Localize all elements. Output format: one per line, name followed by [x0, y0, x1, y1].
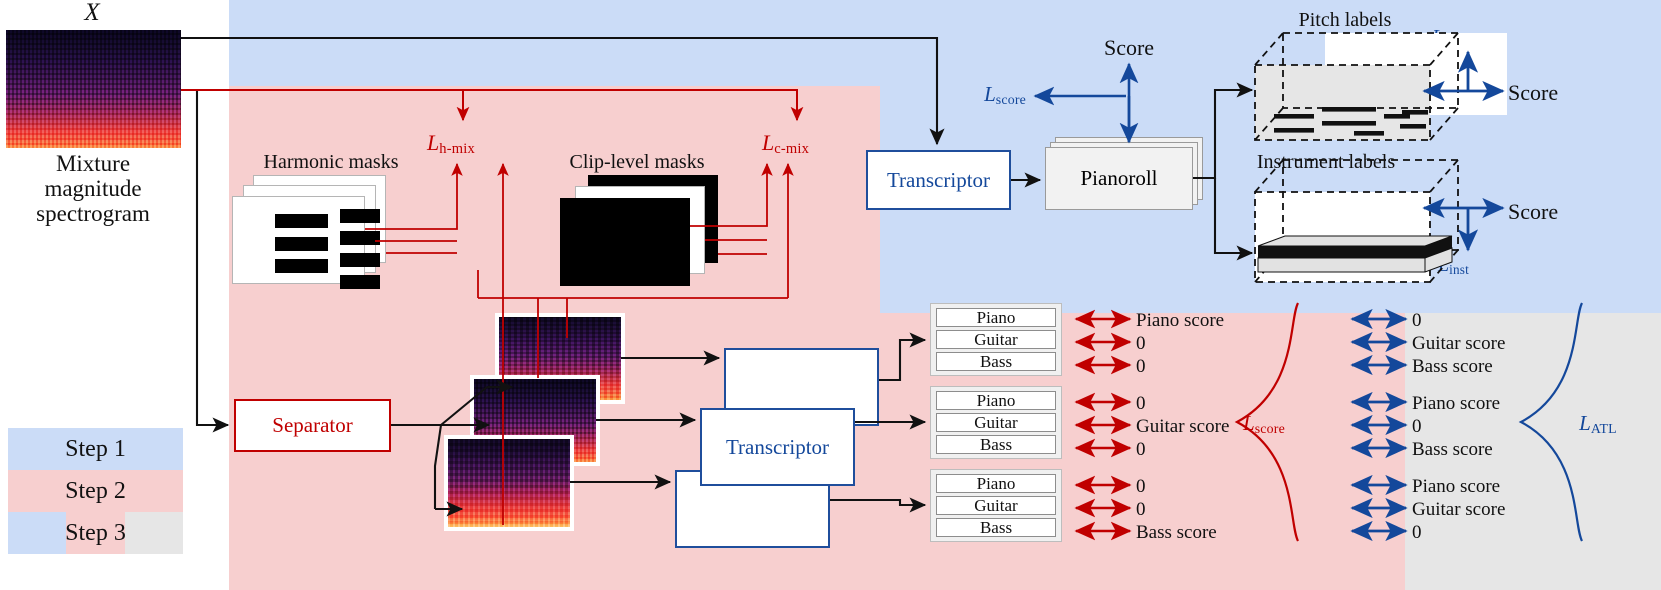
score-table-block: Piano Guitar Bass: [930, 386, 1062, 459]
legend-label: Step 2: [65, 478, 126, 505]
separator-label: Separator: [272, 413, 352, 438]
loss-inst-label: Linst: [1438, 255, 1469, 277]
step2-target: 0: [1136, 357, 1146, 377]
step2-transcriptor-box-2[interactable]: Transcriptor: [700, 408, 855, 486]
loss-c-mix-symbol: L: [762, 130, 774, 155]
step3-target: Guitar score: [1412, 334, 1505, 354]
step2-target: Bass score: [1136, 523, 1217, 543]
loss-pitch-symbol: L: [1432, 26, 1443, 48]
input-symbol-X: X: [84, 0, 99, 26]
mixture-spectrogram: [6, 30, 181, 148]
loss-atl-label: LATL: [1579, 412, 1617, 437]
legend-label: Step 1: [65, 436, 126, 463]
loss-score-step1-subscript: score: [996, 92, 1026, 107]
pitch-score-label: Score: [1508, 81, 1558, 104]
table-row[interactable]: Bass: [936, 518, 1056, 537]
harmonic-mask-bar: [275, 237, 328, 251]
step2-target: 0: [1136, 440, 1146, 460]
step1-transcriptor-label: Transcriptor: [887, 168, 990, 193]
score-table-block: Piano Guitar Bass: [930, 303, 1062, 376]
loss-c-mix-subscript: c-mix: [774, 141, 809, 157]
table-row[interactable]: Piano: [936, 391, 1056, 410]
legend-item-step3: Step 3: [8, 512, 183, 554]
harmonic-mask-bar: [340, 209, 380, 223]
loss-h-mix-symbol: L: [427, 130, 439, 155]
loss-h-mix-label: Lh-mix: [427, 131, 475, 157]
harmonic-mask-bar: [340, 253, 380, 267]
table-row[interactable]: Bass: [936, 435, 1056, 454]
step3-target: Piano score: [1412, 394, 1500, 414]
loss-inst-subscript: inst: [1449, 262, 1469, 277]
legend-label: Step 3: [65, 520, 126, 547]
step2-target: 0: [1136, 394, 1146, 414]
step2-target: Guitar score: [1136, 417, 1229, 437]
harmonic-mask-bar: [340, 231, 380, 245]
loss-score-step1-label: Lscore: [984, 83, 1026, 108]
pianoroll-box: Pianoroll: [1045, 147, 1193, 210]
legend: Step 1 Step 2 Step 3: [8, 428, 183, 554]
clip-masks-title: Clip-level masks: [570, 152, 705, 173]
loss-score-step2-symbol: L: [1243, 411, 1255, 435]
loss-score-step2-label: Lscore: [1243, 412, 1285, 437]
loss-c-mix-label: Lc-mix: [762, 131, 809, 157]
input-caption-line-3: spectrogram: [36, 202, 150, 226]
step2-target: Piano score: [1136, 311, 1224, 331]
separated-spectrogram-3: [448, 439, 570, 527]
pianoroll-label: Pianoroll: [1081, 166, 1158, 191]
input-caption-line-2: magnitude: [44, 177, 141, 201]
table-row[interactable]: Guitar: [936, 496, 1056, 515]
step3-target: Piano score: [1412, 477, 1500, 497]
step3-target: Bass score: [1412, 357, 1493, 377]
harmonic-masks-title: Harmonic masks: [264, 152, 399, 173]
step3-target: 0: [1412, 311, 1422, 331]
legend-swatch-blue: [8, 512, 66, 554]
legend-item-step2: Step 2: [8, 470, 183, 512]
input-caption-line-1: Mixture: [56, 152, 130, 176]
figure-canvas: X Mixture magnitude spectrogram Harmonic…: [0, 0, 1661, 590]
instrument-labels-title: Instrument labels: [1257, 152, 1395, 173]
loss-score-step2-subscript: score: [1255, 421, 1285, 436]
table-row[interactable]: Bass: [936, 352, 1056, 371]
step2-transcriptor-label: Transcriptor: [726, 435, 829, 460]
step2-target: 0: [1136, 334, 1146, 354]
table-row[interactable]: Piano: [936, 308, 1056, 327]
loss-score-step1-symbol: L: [984, 82, 996, 106]
clip-mask-sheet-front: [560, 198, 690, 286]
legend-swatch-gray: [125, 512, 183, 554]
loss-atl-subscript: ATL: [1591, 421, 1617, 436]
harmonic-mask-bar: [340, 275, 380, 289]
step3-target: Guitar score: [1412, 500, 1505, 520]
harmonic-mask-bar: [275, 214, 328, 228]
loss-pitch-subscript: pitch: [1443, 34, 1470, 49]
legend-item-step1: Step 1: [8, 428, 183, 470]
table-row[interactable]: Guitar: [936, 413, 1056, 432]
pitch-labels-title: Pitch labels: [1299, 10, 1392, 31]
step3-target: 0: [1412, 417, 1422, 437]
loss-inst-symbol: L: [1438, 254, 1449, 276]
step1-transcriptor-box[interactable]: Transcriptor: [866, 150, 1011, 210]
instrument-score-label: Score: [1508, 200, 1558, 223]
table-row[interactable]: Piano: [936, 474, 1056, 493]
harmonic-mask-bar: [275, 259, 328, 273]
loss-pitch-label: Lpitch: [1432, 27, 1471, 49]
step2-target: 0: [1136, 500, 1146, 520]
pianoroll-score-label: Score: [1104, 36, 1154, 59]
loss-h-mix-subscript: h-mix: [439, 141, 475, 157]
step2-target: 0: [1136, 477, 1146, 497]
step3-target: 0: [1412, 523, 1422, 543]
score-table-block: Piano Guitar Bass: [930, 469, 1062, 542]
separator-box[interactable]: Separator: [234, 399, 391, 452]
loss-atl-symbol: L: [1579, 411, 1591, 435]
table-row[interactable]: Guitar: [936, 330, 1056, 349]
step3-target: Bass score: [1412, 440, 1493, 460]
